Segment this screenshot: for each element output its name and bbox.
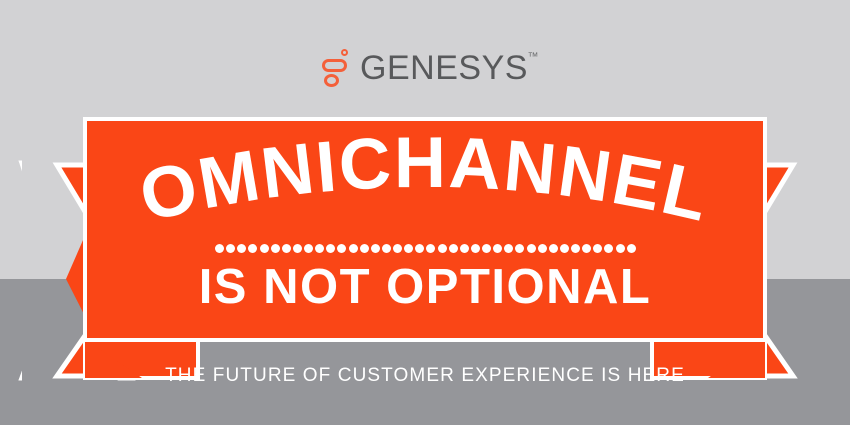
dotted-divider: [215, 243, 636, 253]
divider-dot: [515, 244, 524, 253]
divider-dot: [215, 244, 224, 253]
genesys-wordmark: GENESYS ™: [360, 51, 528, 85]
divider-dot: [293, 244, 302, 253]
divider-dot: [426, 244, 435, 253]
divider-dot: [326, 244, 335, 253]
divider-dot: [538, 244, 547, 253]
divider-dot: [593, 244, 602, 253]
wordmark-text: GENESYS: [360, 49, 528, 87]
divider-dot: [504, 244, 513, 253]
tagline-text: THE FUTURE OF CUSTOMER EXPERIENCE IS HER…: [0, 366, 850, 385]
divider-dot: [415, 244, 424, 253]
genesys-logo: GENESYS ™: [0, 44, 850, 92]
divider-dot: [571, 244, 580, 253]
divider-dot: [226, 244, 235, 253]
divider-dot: [304, 244, 313, 253]
divider-dot: [627, 244, 636, 253]
omnichannel-banner-graphic: GENESYS ™ OMNICHANNEL IS NOT OPTIONAL TH…: [0, 0, 850, 425]
divider-dot: [349, 244, 358, 253]
divider-dot: [493, 244, 502, 253]
divider-dot: [282, 244, 291, 253]
divider-dot: [460, 244, 469, 253]
divider-dot: [604, 244, 613, 253]
logo-pill-shape: [322, 59, 347, 72]
divider-dot: [482, 244, 491, 253]
divider-dot: [527, 244, 536, 253]
divider-dot: [337, 244, 346, 253]
divider-dot: [237, 244, 246, 253]
divider-dot: [616, 244, 625, 253]
genesys-logo-mark-icon: [322, 49, 349, 87]
divider-dot: [260, 244, 269, 253]
divider-dot: [382, 244, 391, 253]
divider-dot: [549, 244, 558, 253]
divider-dot: [560, 244, 569, 253]
divider-dot: [393, 244, 402, 253]
divider-dot: [582, 244, 591, 253]
divider-dot: [371, 244, 380, 253]
divider-dot: [248, 244, 257, 253]
divider-dot: [449, 244, 458, 253]
subheadline-text: IS NOT OPTIONAL: [83, 263, 767, 312]
divider-dot: [471, 244, 480, 253]
logo-oval-shape: [324, 74, 339, 87]
divider-dot: [438, 244, 447, 253]
trademark-symbol: ™: [527, 52, 539, 63]
divider-dot: [404, 244, 413, 253]
divider-dot: [360, 244, 369, 253]
logo-dot-shape: [341, 49, 348, 56]
divider-dot: [315, 244, 324, 253]
divider-dot: [271, 244, 280, 253]
